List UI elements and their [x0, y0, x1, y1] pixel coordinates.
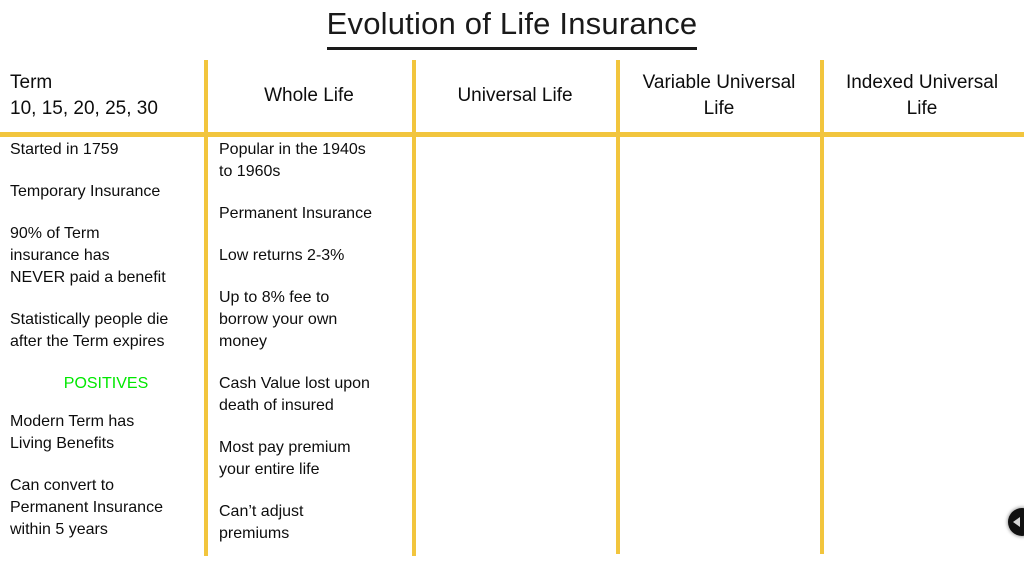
column-header-line: Life: [622, 96, 816, 122]
cell-item: Popular in the 1940s to 1960s: [219, 139, 411, 183]
column-header-universal-life: Universal Life: [418, 60, 612, 132]
column-header-whole-life: Whole Life: [210, 60, 408, 132]
cell-item: Most pay premium your entire life: [219, 437, 411, 481]
comparison-table: Term 10, 15, 20, 25, 30 Whole Life Unive…: [0, 60, 1024, 576]
header-rule: [0, 132, 1024, 137]
column-header-line: 10, 15, 20, 25, 30: [10, 96, 200, 122]
column-header-line: Indexed Universal: [826, 70, 1018, 96]
column-header-line: Term: [10, 70, 200, 96]
column-body-term: Started in 1759 Temporary Insurance 90% …: [10, 139, 202, 541]
cell-item: Modern Term has Living Benefits: [10, 411, 202, 455]
cell-item: Temporary Insurance: [10, 181, 202, 203]
column-header-indexed-universal-life: Indexed Universal Life: [826, 60, 1018, 132]
cell-item: Started in 1759: [10, 139, 202, 161]
cell-item: Can convert to Permanent Insurance withi…: [10, 475, 202, 541]
cell-item: Low returns 2-3%: [219, 245, 411, 267]
positives-label: POSITIVES: [10, 373, 202, 395]
column-header-line: Whole Life: [210, 83, 408, 109]
play-triangle-icon: [1013, 517, 1020, 527]
cell-item: Up to 8% fee to borrow your own money: [219, 287, 411, 353]
column-header-line: Variable Universal: [622, 70, 816, 96]
cell-item: Can’t adjust premiums: [219, 501, 411, 545]
cell-item: Permanent Insurance: [219, 203, 411, 225]
column-header-line: Universal Life: [418, 83, 612, 109]
column-body-whole-life: Popular in the 1940s to 1960s Permanent …: [219, 139, 411, 545]
column-header-variable-universal-life: Variable Universal Life: [622, 60, 816, 132]
column-header-term: Term 10, 15, 20, 25, 30: [10, 60, 200, 132]
column-header-line: Life: [826, 96, 1018, 122]
page-title: Evolution of Life Insurance: [0, 4, 1024, 50]
cell-item: 90% of Term insurance has NEVER paid a b…: [10, 223, 202, 289]
cell-item: Statistically people die after the Term …: [10, 309, 202, 353]
page-title-text: Evolution of Life Insurance: [327, 4, 698, 50]
cell-item: Cash Value lost upon death of insured: [219, 373, 411, 417]
